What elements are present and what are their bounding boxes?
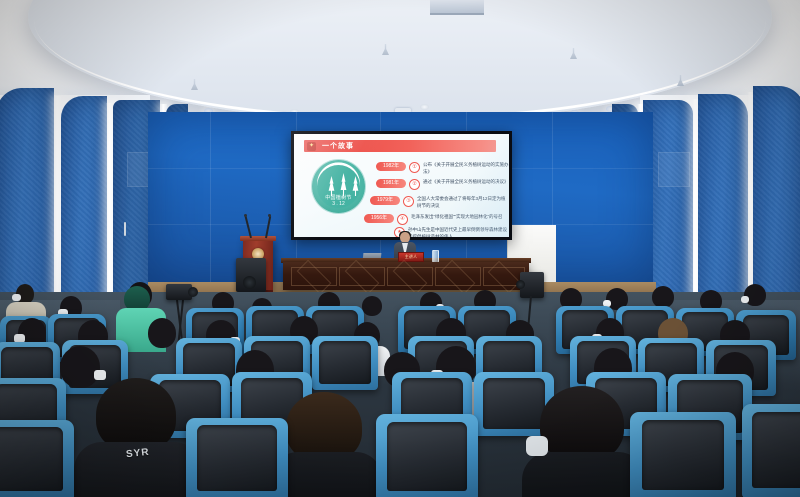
wall-access-plate — [658, 152, 690, 187]
seat[interactable] — [630, 412, 736, 497]
timeline-item: 1982年 ① 公布《关于开展全民义务植树运动的实施办法》 — [376, 162, 509, 175]
emblem-disc: 中国植树节 3 . 12 — [317, 165, 360, 208]
timeline-item: 1979年 ③ 全国人大常委会通过了将每年3月12日定为植树节的决议 — [370, 196, 509, 209]
emblem-caption-primary: 中国植树节 — [317, 194, 360, 201]
emblem-trees-icon — [327, 176, 360, 196]
timeline-year-badge: 1956年 — [364, 214, 394, 223]
seat[interactable] — [0, 420, 74, 497]
timeline-text: 毛泽东发出“绿化祖国”“实现大地园林化”的号召 — [411, 214, 503, 221]
presentation-slide: ✦ 一个故事 中国植树节 3 . 12 1982年 ① 公布《关于开展全民义务 — [294, 134, 509, 237]
name-placard-text: 主讲人 — [399, 254, 423, 260]
microphone-head-icon — [244, 214, 247, 217]
camera-lens-icon — [516, 280, 525, 289]
seat[interactable] — [376, 414, 478, 497]
projection-screen[interactable]: ✦ 一个故事 中国植树节 3 . 12 1982年 ① 公布《关于开展全民义务 — [291, 131, 512, 240]
timeline-marker-icon: ③ — [403, 196, 414, 207]
timeline-year-badge: 1979年 — [370, 196, 400, 205]
slide-header-bar: ✦ 一个故事 — [304, 140, 496, 152]
party-emblem-icon: ✦ — [307, 142, 316, 151]
timeline-text: 通过《关于开展全民义务植树运动的决议》 — [423, 179, 509, 186]
seat[interactable] — [312, 336, 378, 390]
timeline-marker-icon: ④ — [397, 214, 408, 225]
timeline-marker-icon: ② — [409, 179, 420, 190]
timeline-text: 孙中山先生是中国近代史上最早倒倒领导森林建设和提倡植树造林的伟人 — [408, 227, 509, 237]
slide-title: 一个故事 — [322, 141, 354, 151]
seat[interactable] — [742, 404, 800, 497]
timeline-item: 1981年 ② 通过《关于开展全民义务植树运动的决议》 — [376, 179, 509, 190]
arbor-day-emblem: 中国植树节 3 . 12 — [312, 160, 365, 213]
auditorium-photo: ✦ 一个故事 中国植树节 3 . 12 1982年 ① 公布《关于开展全民义务 — [0, 0, 800, 497]
smoke-detector-icon — [420, 104, 429, 110]
door-handle — [124, 222, 126, 236]
head-table-front-panel — [283, 262, 529, 290]
emblem-caption-date: 3 . 12 — [317, 201, 360, 207]
timeline-year-badge: 1982年 — [376, 162, 406, 171]
camera-lens-icon — [188, 287, 198, 297]
projector-mount — [430, 0, 484, 15]
microphone-head-icon — [268, 214, 271, 217]
timeline-year-badge: 1981年 — [376, 179, 406, 188]
face-mask — [526, 436, 548, 456]
speaker-woofer-icon — [243, 276, 256, 289]
podium-top — [240, 236, 276, 241]
timeline-marker-icon: ① — [409, 162, 420, 173]
timeline-item: 1956年 ④ 毛泽东发出“绿化祖国”“实现大地园林化”的号召 — [364, 214, 503, 225]
timeline-text: 公布《关于开展全民义务植树运动的实施办法》 — [423, 162, 509, 175]
seat[interactable] — [186, 418, 288, 497]
timeline-text: 全国人大常委会通过了将每年3月12日定为植树节的决议 — [417, 196, 509, 209]
wall-light-strip — [54, 96, 61, 324]
